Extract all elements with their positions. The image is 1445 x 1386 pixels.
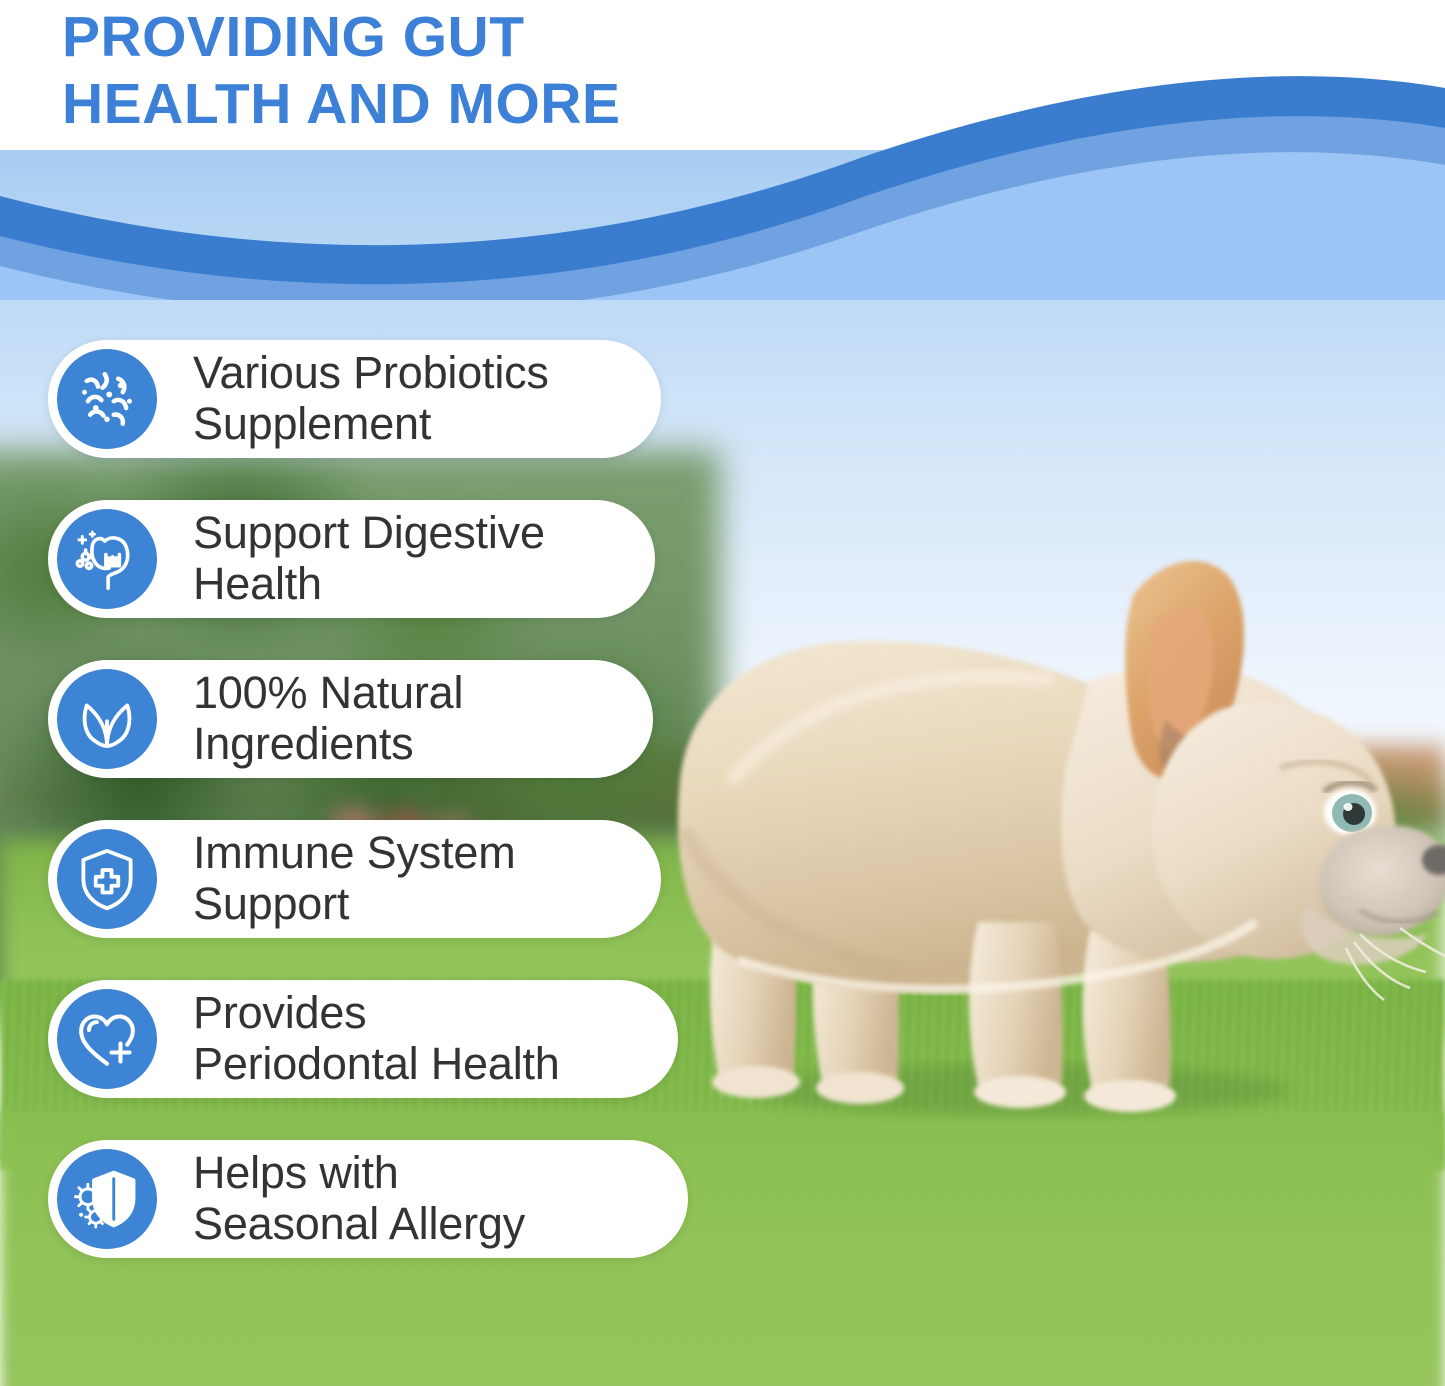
feature-label: Immune System Support <box>193 828 516 930</box>
feature-pill-digestive[interactable]: Support Digestive Health <box>48 500 655 618</box>
feature-label: Provides Periodontal Health <box>193 988 560 1090</box>
allergy-shield-virus-icon <box>57 1149 157 1249</box>
page-title: PROVIDING GUT HEALTH AND MORE <box>62 4 962 137</box>
feature-label: Various Probiotics Supplement <box>193 348 549 450</box>
feature-label: Helps with Seasonal Allergy <box>193 1148 525 1250</box>
product-infographic: PROVIDING GUT HEALTH AND MORE <box>0 0 1445 1386</box>
probiotics-bacteria-icon <box>57 349 157 449</box>
natural-leaf-icon <box>57 669 157 769</box>
feature-pill-natural[interactable]: 100% Natural Ingredients <box>48 660 653 778</box>
feature-pill-allergy[interactable]: Helps with Seasonal Allergy <box>48 1140 688 1258</box>
feature-pill-probiotics[interactable]: Various Probiotics Supplement <box>48 340 661 458</box>
immune-shield-cross-icon <box>57 829 157 929</box>
french-bulldog-puppy <box>660 530 1445 1130</box>
heart-plus-icon <box>57 989 157 1089</box>
feature-list: Various Probiotics Supplement Support Di… <box>48 340 708 1300</box>
feature-label: 100% Natural Ingredients <box>193 668 463 770</box>
feature-pill-periodontal[interactable]: Provides Periodontal Health <box>48 980 678 1098</box>
feature-label: Support Digestive Health <box>193 508 545 610</box>
digestive-stomach-icon <box>57 509 157 609</box>
feature-pill-immune[interactable]: Immune System Support <box>48 820 661 938</box>
